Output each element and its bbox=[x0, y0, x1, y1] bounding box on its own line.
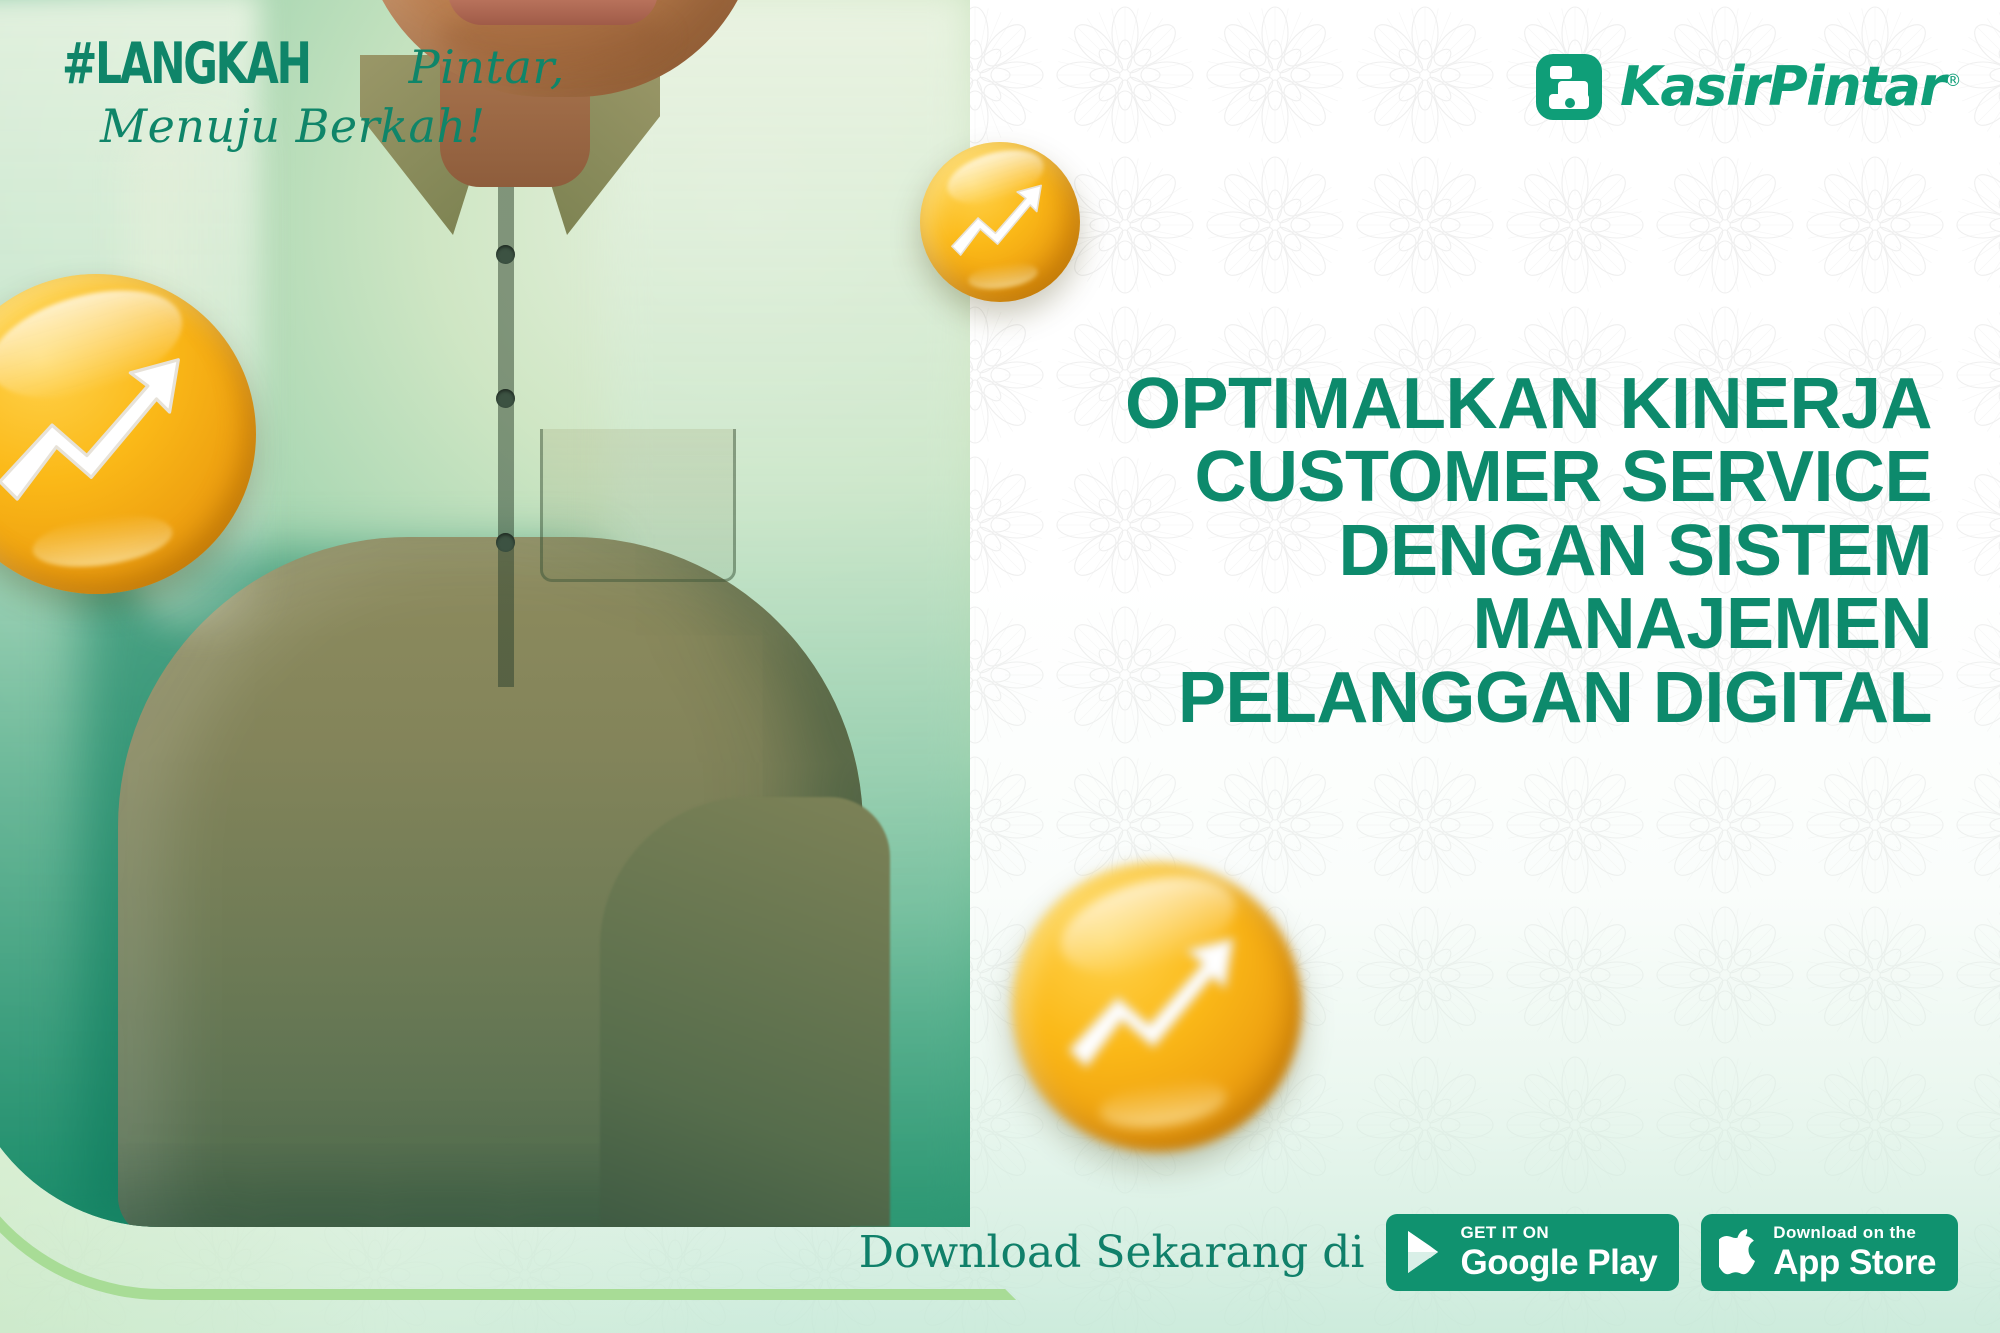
app-store-small-text: Download on the bbox=[1773, 1224, 1936, 1241]
tagline-line-1: #LANGKAH Pintar, bbox=[62, 36, 565, 93]
headline-line-3: DENGAN SISTEM bbox=[1125, 515, 1932, 588]
growth-arrow-icon bbox=[1047, 908, 1267, 1105]
tagline-script-1: Pintar, bbox=[409, 44, 565, 90]
google-play-icon bbox=[1404, 1228, 1448, 1276]
shirt-button bbox=[496, 533, 515, 552]
app-store-large-text: App Store bbox=[1773, 1245, 1936, 1280]
apple-icon bbox=[1719, 1227, 1761, 1277]
download-label: Download Sekarang di bbox=[859, 1227, 1365, 1278]
headline-line-2: CUSTOMER SERVICE bbox=[1125, 441, 1932, 514]
growth-coin-top bbox=[920, 142, 1080, 302]
tagline-script-2: Menuju Berkah! bbox=[100, 103, 565, 149]
brand-name-text: KasirPintar bbox=[1620, 55, 1944, 118]
growth-arrow-icon bbox=[0, 325, 218, 543]
growth-coin-middle bbox=[1012, 862, 1302, 1152]
tagline-hashtag: #LANGKAH bbox=[62, 36, 310, 93]
headline-line-1: OPTIMALKAN KINERJA bbox=[1125, 368, 1932, 441]
agent-right-arm bbox=[600, 797, 890, 1227]
pos-terminal-icon bbox=[1536, 54, 1602, 120]
google-play-badge[interactable]: GET IT ON Google Play bbox=[1386, 1214, 1679, 1291]
google-play-large-text: Google Play bbox=[1460, 1245, 1657, 1280]
headline-line-5: PELANGGAN DIGITAL bbox=[1125, 662, 1932, 735]
promo-banner: #LANGKAH Pintar, Menuju Berkah! KasirPin… bbox=[0, 0, 2000, 1333]
agent-photo bbox=[0, 0, 970, 1227]
brand-name: KasirPintar® bbox=[1620, 60, 1960, 114]
app-store-badge[interactable]: Download on the App Store bbox=[1701, 1214, 1958, 1291]
shirt-button bbox=[496, 389, 515, 408]
campaign-tagline: #LANGKAH Pintar, Menuju Berkah! bbox=[62, 36, 565, 149]
headline-line-4: MANAJEMEN bbox=[1125, 588, 1932, 661]
agent-lower-lip bbox=[448, 0, 658, 25]
brand-logo[interactable]: KasirPintar® bbox=[1536, 54, 1960, 120]
shirt-pocket bbox=[540, 429, 736, 582]
agent-figure bbox=[110, 47, 870, 1227]
headline: OPTIMALKAN KINERJA CUSTOMER SERVICE DENG… bbox=[1125, 368, 1932, 735]
google-play-small-text: GET IT ON bbox=[1460, 1224, 1657, 1241]
download-section: Download Sekarang di GET IT ON Google Pl… bbox=[859, 1214, 1958, 1291]
shirt-button bbox=[496, 245, 515, 264]
registered-mark: ® bbox=[1945, 71, 1961, 91]
growth-arrow-icon bbox=[939, 168, 1061, 277]
